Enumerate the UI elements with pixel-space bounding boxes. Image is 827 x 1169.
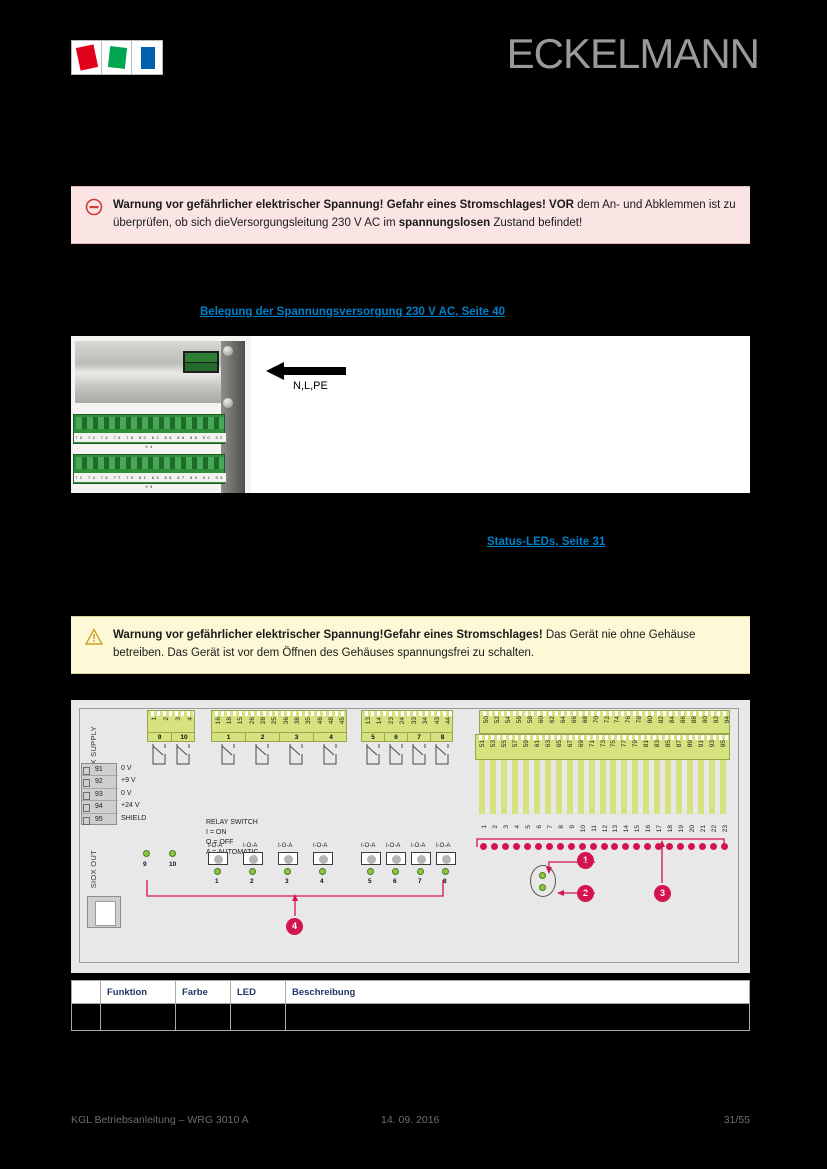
relay-status-led-label: 10 <box>169 861 176 868</box>
terminal-pin-number: 36 <box>283 717 290 724</box>
sensor-terminal-number-upper: 56 <box>516 716 523 723</box>
terminal-group-label: 10 <box>172 733 196 742</box>
sensor-terminal-number-upper: 94 <box>724 716 731 723</box>
sensor-terminal-number-lower: 93 <box>709 740 716 747</box>
terminal-group-label: 8 <box>431 733 454 742</box>
terminal-pin-number: 26 <box>249 717 256 724</box>
terminal-tab-icon <box>83 779 90 787</box>
relay-switch-index: 2 <box>250 878 254 885</box>
supply-terminal-number: 95 <box>95 814 103 826</box>
table-cell <box>176 1004 231 1031</box>
relay-switch-3[interactable] <box>278 852 298 865</box>
relay-contact-symbol <box>253 744 271 766</box>
status-led-number: 16 <box>645 825 652 832</box>
supply-terminal-91: 91 <box>82 764 118 776</box>
sensor-terminal-number-upper: 54 <box>505 716 512 723</box>
terminal-row-top: 70 72 74 76 78 80 82 84 86 88 90 92 94 <box>73 414 225 444</box>
table-cell <box>72 1004 101 1031</box>
sensor-terminal-leg <box>621 760 627 814</box>
supply-desc-91: 0 V <box>121 765 132 772</box>
callout-3: 3 <box>654 885 671 902</box>
terminal-row-bottom-labels: 71 73 75 77 79 81 83 85 87 89 91 93 95 <box>74 473 226 482</box>
sensor-terminal-leg <box>556 760 562 814</box>
supply-terminal-93: 93 <box>82 789 118 801</box>
relay-led-7 <box>417 868 424 875</box>
terminal-block-sensors: 5052545658606264666870727476788082848688… <box>475 710 730 828</box>
sensor-terminal-number-lower: 73 <box>600 740 607 747</box>
relay-switch-8[interactable] <box>436 852 456 865</box>
terminal-block-3: 1314232433344344 5678 <box>361 710 453 742</box>
sensor-terminal-number-lower: 81 <box>643 740 650 747</box>
table-header-funktion: Funktion <box>101 981 176 1004</box>
relay-led-1 <box>214 868 221 875</box>
terminal-pin-number: 4 <box>187 717 194 721</box>
supply-desc-92: +9 V <box>121 777 136 784</box>
status-led-number: 11 <box>591 825 598 832</box>
status-led-number: 14 <box>623 825 630 832</box>
warning-note-bold-1: Warnung vor gefährlicher elektrischer Sp… <box>113 629 543 641</box>
sensor-terminal-leg <box>501 760 507 814</box>
terminal-pin-number: 15 <box>237 717 244 724</box>
warning-note: Warnung vor gefährlicher elektrischer Sp… <box>71 616 750 674</box>
relay-switch-index: 3 <box>285 878 289 885</box>
page-footer: KGL Betriebsanleitung – WRG 3010 A 14. 0… <box>71 1105 750 1139</box>
terminal-block-2-groups: 1234 <box>212 732 346 741</box>
terminal-pin-number: 28 <box>260 717 267 724</box>
status-led-indicator <box>699 843 706 850</box>
terminal-pin-number: 35 <box>305 717 312 724</box>
relay-led-2 <box>249 868 256 875</box>
green-square-icon <box>108 46 127 69</box>
blue-square-icon <box>141 47 155 69</box>
terminal-pin-number: 43 <box>434 717 441 724</box>
sensor-terminal-leg <box>523 760 529 814</box>
sensor-terminal-number-lower: 75 <box>610 740 617 747</box>
sensor-terminal-number-upper: 70 <box>593 716 600 723</box>
sensor-terminal-number-lower: 85 <box>665 740 672 747</box>
status-led-number: 5 <box>525 825 532 829</box>
highlight-led-1 <box>539 872 546 879</box>
status-led-number: 3 <box>503 825 510 829</box>
terminal-pin-number: 38 <box>294 717 301 724</box>
relay-switch-positions-label: I-O-A <box>361 843 375 849</box>
relay-status-led-label: 9 <box>143 861 147 868</box>
relay-legend-title: RELAY SWITCH <box>206 818 258 828</box>
supply-terminal-94: 94 <box>82 801 118 813</box>
screw-icon <box>223 346 233 356</box>
status-led-indicator <box>721 843 728 850</box>
sensor-terminal-number-upper: 62 <box>549 716 556 723</box>
siox-out-label: SIOX OUT <box>89 850 98 888</box>
sensor-terminal-number-lower: 53 <box>490 740 497 747</box>
danger-icon <box>85 198 103 216</box>
relay-contact-symbol <box>364 744 382 766</box>
terminal-pin-number: 44 <box>445 717 452 724</box>
sensor-terminal-number-lower: 87 <box>676 740 683 747</box>
sensor-terminal-leg <box>479 760 485 814</box>
relay-contact-symbol <box>321 744 339 766</box>
sensor-terminal-leg <box>665 760 671 814</box>
status-led-number: 20 <box>689 825 696 832</box>
relay-switch-index: 7 <box>418 878 422 885</box>
sensor-terminal-number-upper: 86 <box>680 716 687 723</box>
status-led-number: 19 <box>678 825 685 832</box>
status-led-number: 9 <box>569 825 576 829</box>
terminal-pin-number: 24 <box>399 717 406 724</box>
status-led-indicator <box>677 843 684 850</box>
sensor-terminal-number-lower: 61 <box>534 740 541 747</box>
terminal-pin-number: 14 <box>376 717 383 724</box>
status-led-indicator <box>655 843 662 850</box>
sensor-terminal-number-upper: 60 <box>538 716 545 723</box>
relay-switch-5[interactable] <box>361 852 381 865</box>
sensor-terminal-number-upper: 64 <box>560 716 567 723</box>
brand-wordmark: ECKELMANN <box>507 30 759 78</box>
terminal-pin-number: 3 <box>175 717 182 721</box>
status-led-number: 2 <box>492 825 499 829</box>
relay-switch-positions-label: I-O-A <box>278 843 292 849</box>
screw-icon <box>223 398 233 408</box>
supply-terminal-number: 94 <box>95 801 103 813</box>
page-header: ECKELMANN <box>0 0 827 110</box>
sensor-terminal-number-lower: 95 <box>720 740 727 747</box>
sensor-terminal-number-lower: 51 <box>479 740 486 747</box>
status-led-indicator <box>579 843 586 850</box>
table-header-led: LED <box>231 981 286 1004</box>
sensor-terminal-leg <box>534 760 540 814</box>
terminal-pin-number: 45 <box>339 717 346 724</box>
relay-contact-symbol <box>150 744 168 766</box>
terminal-pin-number: 2 <box>163 717 170 721</box>
supply-terminal-95: 95 <box>82 814 118 826</box>
callout-2: 2 <box>577 885 594 902</box>
sensor-terminal-leg <box>610 760 616 814</box>
status-led-number: 7 <box>547 825 554 829</box>
relay-contact-symbol <box>219 744 237 766</box>
terminal-pins <box>76 417 224 429</box>
terminal-group-label: 3 <box>280 733 314 742</box>
terminal-pin-number: 23 <box>388 717 395 724</box>
relay-switch-index: 1 <box>215 878 219 885</box>
danger-note-text-2: Zustand befindet! <box>490 217 582 229</box>
eckelmann-squares-logo <box>71 40 163 75</box>
status-led-number: 23 <box>722 825 729 832</box>
sensor-terminal-leg <box>512 760 518 814</box>
status-led-number: 21 <box>700 825 707 832</box>
siox-out-connector[interactable] <box>87 896 121 928</box>
sensor-terminal-number-upper: 72 <box>604 716 611 723</box>
supply-terminal-number: 92 <box>95 776 103 788</box>
status-led-indicator <box>535 843 542 850</box>
status-led-indicator <box>710 843 717 850</box>
sensor-terminal-leg <box>676 760 682 814</box>
sensor-terminal-number-upper: 80 <box>647 716 654 723</box>
sensor-terminal-number-upper: 68 <box>582 716 589 723</box>
logo-cell-green <box>102 41 132 74</box>
sensor-terminal-number-lower: 65 <box>556 740 563 747</box>
table-header-0 <box>72 981 101 1004</box>
terminal-group-label: 4 <box>314 733 348 742</box>
relay-contact-symbol <box>410 744 428 766</box>
sensor-terminal-leg <box>589 760 595 814</box>
relay-contact-symbol <box>387 744 405 766</box>
relay-led-8 <box>442 868 449 875</box>
sensor-terminal-number-lower: 89 <box>687 740 694 747</box>
sensor-terminal-number-lower: 79 <box>632 740 639 747</box>
relay-switch-index: 5 <box>368 878 372 885</box>
link-status-leds[interactable]: Status-LEDs, Seite 31 <box>487 536 605 548</box>
sensor-terminal-leg <box>709 760 715 814</box>
terminal-group-label: 2 <box>246 733 280 742</box>
relay-switch-positions-label: I-O-A <box>436 843 450 849</box>
sensor-terminal-number-lower: 91 <box>698 740 705 747</box>
sensor-terminal-leg <box>545 760 551 814</box>
led-pair-highlight-circle <box>530 865 556 897</box>
relay-status-led <box>169 850 176 857</box>
warning-triangle-icon <box>85 628 103 646</box>
relay-switch-positions-label: I-O-A <box>313 843 327 849</box>
sensor-terminal-leg <box>720 760 726 814</box>
logo-cell-red <box>72 41 102 74</box>
danger-note-bold-1: Warnung vor gefährlicher elektrischer Sp… <box>113 199 574 211</box>
status-led-number: 8 <box>558 825 565 829</box>
status-led-indicator <box>666 843 673 850</box>
sensor-terminal-number-upper: 78 <box>636 716 643 723</box>
logo-cell-blue <box>132 41 162 74</box>
terminal-group-label: 9 <box>148 733 172 742</box>
status-led-indicator <box>688 843 695 850</box>
terminal-pin-number: 13 <box>365 717 372 724</box>
sensor-terminal-number-upper: 52 <box>494 716 501 723</box>
sensor-terminal-number-upper: 90 <box>702 716 709 723</box>
terminal-pin-number: 1 <box>151 717 158 721</box>
footer-document-title: KGL Betriebsanleitung – WRG 3010 A <box>71 1114 249 1126</box>
rj45-icon <box>95 901 116 926</box>
relay-switch-index: 6 <box>393 878 397 885</box>
sensor-terminal-number-lower: 77 <box>621 740 628 747</box>
status-led-indicator <box>590 843 597 850</box>
terminal-pin-number: 16 <box>215 717 222 724</box>
sensor-terminal-leg <box>698 760 704 814</box>
terminal-tab-icon <box>83 792 90 800</box>
relay-switch-positions-label: I-O-A <box>243 843 257 849</box>
status-led-number: 22 <box>711 825 718 832</box>
relay-switch-positions-label: I-O-A <box>208 843 222 849</box>
table-header-row: Funktion Farbe LED Beschreibung <box>72 981 750 1004</box>
terminal-pin-number: 34 <box>422 717 429 724</box>
sensor-terminal-leg <box>490 760 496 814</box>
sensor-terminal-number-upper: 88 <box>691 716 698 723</box>
terminal-group-label: 6 <box>385 733 408 742</box>
relay-switch-7[interactable] <box>411 852 431 865</box>
terminal-layout-diagram: SIOX SUPPLY SIOX OUT 91 92 93 94 95 0 V … <box>71 700 750 973</box>
terminal-block-1-groups: 910 <box>148 732 194 741</box>
callout-1: 1 <box>577 852 594 869</box>
link-power-supply-assignment[interactable]: Belegung der Spannungsversorgung 230 V A… <box>200 306 505 318</box>
relay-status-led <box>143 850 150 857</box>
status-led-number: 18 <box>667 825 674 832</box>
relay-switch-2[interactable] <box>243 852 263 865</box>
sensor-terminal-leg <box>643 760 649 814</box>
sensor-terminal-leg <box>600 760 606 814</box>
status-led-number: 1 <box>481 825 488 829</box>
status-led-number: 15 <box>634 825 641 832</box>
status-led-indicator <box>557 843 564 850</box>
sensor-terminal-number-lower: 69 <box>578 740 585 747</box>
terminal-pins <box>76 457 224 469</box>
photo-arrow-label: N,L,PE <box>293 380 328 392</box>
terminal-pin-number: 46 <box>317 717 324 724</box>
terminal-pin-number: 25 <box>271 717 278 724</box>
terminal-group-label: 7 <box>408 733 431 742</box>
relay-switch-index: 4 <box>320 878 324 885</box>
sensor-terminal-leg <box>654 760 660 814</box>
supply-terminal-92: 92 <box>82 776 118 788</box>
sensor-terminal-number-upper: 82 <box>658 716 665 723</box>
relay-switch-4[interactable] <box>313 852 333 865</box>
sensor-terminal-number-upper: 84 <box>669 716 676 723</box>
terminal-tab-icon <box>83 767 90 775</box>
sensor-terminal-leg <box>578 760 584 814</box>
device-photo: 70 72 74 76 78 80 82 84 86 88 90 92 94 7… <box>71 336 251 493</box>
table-row <box>72 1004 750 1031</box>
relay-switch-positions-label: I-O-A <box>386 843 400 849</box>
status-led-indicator <box>546 843 553 850</box>
mains-connector-nlpe <box>183 351 219 373</box>
sensor-terminal-number-lower: 71 <box>589 740 596 747</box>
relay-led-5 <box>367 868 374 875</box>
relay-contact-symbol <box>433 744 451 766</box>
table-header-beschreibung: Beschreibung <box>286 981 750 1004</box>
relay-switch-1[interactable] <box>208 852 228 865</box>
relay-contact-symbol <box>174 744 192 766</box>
sensor-terminal-leg <box>632 760 638 814</box>
terminal-row-top-labels: 70 72 74 76 78 80 82 84 86 88 90 92 94 <box>74 433 226 442</box>
relay-contact-symbol <box>287 744 305 766</box>
terminal-pin-number: 48 <box>328 717 335 724</box>
table-header-farbe: Farbe <box>176 981 231 1004</box>
supply-desc-93: 0 V <box>121 790 132 797</box>
supply-desc-94: +24 V <box>121 802 140 809</box>
table-cell <box>101 1004 176 1031</box>
status-led-indicator <box>568 843 575 850</box>
device-photo-frame: 70 72 74 76 78 80 82 84 86 88 90 92 94 7… <box>71 336 750 493</box>
footer-page-number: 31/55 <box>724 1114 750 1126</box>
terminal-block-3-groups: 5678 <box>362 732 452 741</box>
supply-terminal-number: 91 <box>95 764 103 776</box>
sensor-terminal-number-lower: 57 <box>512 740 519 747</box>
sensor-terminal-number-upper: 92 <box>713 716 720 723</box>
status-led-indicator <box>601 843 608 850</box>
status-led-number: 17 <box>656 825 663 832</box>
sensor-terminal-number-upper: 74 <box>614 716 621 723</box>
sensor-terminal-number-lower: 59 <box>523 740 530 747</box>
relay-led-6 <box>392 868 399 875</box>
terminal-group-label: 5 <box>362 733 385 742</box>
relay-switch-6[interactable] <box>386 852 406 865</box>
terminal-block-1: 1234 910 <box>147 710 195 742</box>
relay-switch-index: 8 <box>443 878 447 885</box>
table-cell <box>286 1004 750 1031</box>
terminal-row-bottom: 71 73 75 77 79 81 83 85 87 89 91 93 95 <box>73 454 225 484</box>
red-square-icon <box>76 44 98 70</box>
highlight-led-2 <box>539 884 546 891</box>
sensor-terminal-number-upper: 66 <box>571 716 578 723</box>
callout-4: 4 <box>286 918 303 935</box>
sensor-terminal-number-upper: 50 <box>483 716 490 723</box>
danger-note: Warnung vor gefährlicher elektrischer Sp… <box>71 186 750 244</box>
status-led-number: 4 <box>514 825 521 829</box>
sensor-terminal-number-upper: 58 <box>527 716 534 723</box>
terminal-group-label: 1 <box>212 733 246 742</box>
relay-led-3 <box>284 868 291 875</box>
supply-terminal-number: 93 <box>95 789 103 801</box>
terminal-tab-icon <box>83 817 90 825</box>
status-led-number: 10 <box>580 825 587 832</box>
terminal-pin-number: 18 <box>226 717 233 724</box>
status-led-number: 13 <box>612 825 619 832</box>
siox-supply-terminal-block: 91 92 93 94 95 <box>81 763 117 825</box>
sensor-terminal-number-lower: 67 <box>567 740 574 747</box>
terminal-block-2: 161815262825363835464845 1234 <box>211 710 347 742</box>
status-led-number: 6 <box>536 825 543 829</box>
sensor-terminal-leg <box>687 760 693 814</box>
relay-legend-on: I = ON <box>206 828 258 838</box>
supply-desc-95: SHIELD <box>121 815 146 822</box>
danger-note-bold-2: spannungslosen <box>399 217 490 229</box>
pointer-arrow-icon <box>266 360 346 382</box>
terminal-tab-icon <box>83 804 90 812</box>
sensor-terminal-number-lower: 55 <box>501 740 508 747</box>
status-led-number: 12 <box>602 825 609 832</box>
sensor-terminal-leg <box>567 760 573 814</box>
terminal-pin-number: 33 <box>411 717 418 724</box>
status-led-table: Funktion Farbe LED Beschreibung <box>71 980 750 1031</box>
footer-date: 14. 09. 2016 <box>381 1114 439 1126</box>
sensor-terminal-number-upper: 76 <box>625 716 632 723</box>
sensor-terminal-number-lower: 83 <box>654 740 661 747</box>
relay-switch-positions-label: I-O-A <box>411 843 425 849</box>
relay-led-4 <box>319 868 326 875</box>
sensor-terminal-number-lower: 63 <box>545 740 552 747</box>
table-cell <box>231 1004 286 1031</box>
